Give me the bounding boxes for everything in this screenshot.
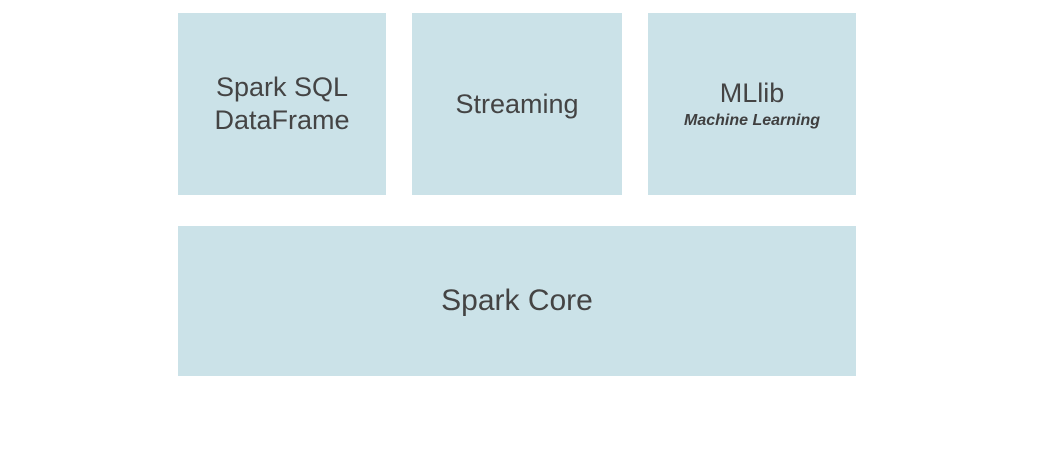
layer-title-spark-core: Spark Core [441,283,593,320]
layer-title-spark-sql: Spark SQL DataFrame [214,71,349,137]
layer-box-spark-sql: Spark SQL DataFrame [178,13,386,195]
layer-title-streaming: Streaming [455,88,578,121]
layer-box-spark-core: Spark Core [178,226,856,376]
layer-title-mllib: MLlib [720,77,785,110]
layer-box-streaming: Streaming [412,13,622,195]
layer-box-mllib: MLlib Machine Learning [648,13,856,195]
layer-subtitle-mllib: Machine Learning [684,111,820,130]
architecture-diagram: Spark SQL DataFrame Streaming MLlib Mach… [0,0,1053,457]
